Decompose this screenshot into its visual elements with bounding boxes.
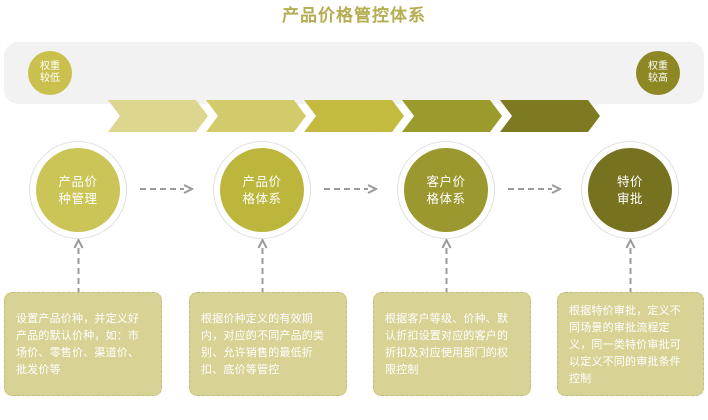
stage-node-4-body: 特价 审批 xyxy=(588,148,672,232)
callout-arrow-3 xyxy=(441,238,452,294)
chevron-row xyxy=(108,100,598,132)
description-box-2: 根据价种定义的有效期内，对应的不同产品的类别、允许销售的最低折扣、底价等管控 xyxy=(189,292,347,396)
stage-node-1-line2: 种管理 xyxy=(58,190,97,207)
stage-node-4-line2: 审批 xyxy=(617,190,643,207)
callout-arrow-4 xyxy=(625,238,636,294)
weight-badge-high-line1: 权重 xyxy=(648,61,668,73)
chevron-arrow xyxy=(304,100,404,132)
weight-badge-low-line1: 权重 xyxy=(40,61,60,73)
callout-arrow-2 xyxy=(257,238,268,294)
flow-arrow-1-to-2 xyxy=(140,184,194,194)
price-control-diagram: 产品价格管控体系 权重 较低 权重 较高 xyxy=(0,0,708,420)
chevron-arrow xyxy=(500,100,600,132)
weight-badge-low: 权重 较低 xyxy=(28,51,72,95)
page-title: 产品价格管控体系 xyxy=(0,4,708,28)
stage-node-3[interactable]: 客户价 格体系 xyxy=(398,142,494,238)
stage-node-3-line1: 客户价 xyxy=(426,173,465,190)
chevron-arrow xyxy=(108,100,208,132)
callout-arrow-1 xyxy=(73,238,84,294)
weight-badge-high: 权重 较高 xyxy=(636,51,680,95)
chevron-arrow xyxy=(402,100,502,132)
stage-node-2-line1: 产品价 xyxy=(242,173,281,190)
stage-node-4-line1: 特价 xyxy=(617,173,643,190)
stage-node-1-line1: 产品价 xyxy=(58,173,97,190)
stage-node-3-line2: 格体系 xyxy=(426,190,465,207)
description-text-2: 根据价种定义的有效期内，对应的不同产品的类别、允许销售的最低折扣、底价等管控 xyxy=(201,310,335,378)
stage-node-2[interactable]: 产品价 格体系 xyxy=(214,142,310,238)
chevron-arrow xyxy=(206,100,306,132)
stage-node-1[interactable]: 产品价 种管理 xyxy=(30,142,126,238)
description-text-1: 设置产品价种，并定义好产品的默认价种，如：市场价、零售价、渠道价、批发价等 xyxy=(16,310,150,378)
flow-arrow-2-to-3 xyxy=(324,184,378,194)
stage-node-4[interactable]: 特价 审批 xyxy=(582,142,678,238)
description-box-3: 根据客户等级、价种、默认折扣设置对应的客户的折扣及对应使用部门的权限控制 xyxy=(373,292,531,396)
weight-scale-panel: 权重 较低 权重 较高 xyxy=(4,42,704,104)
description-text-3: 根据客户等级、价种、默认折扣设置对应的客户的折扣及对应使用部门的权限控制 xyxy=(385,310,519,378)
description-box-1: 设置产品价种，并定义好产品的默认价种，如：市场价、零售价、渠道价、批发价等 xyxy=(4,292,162,396)
stage-node-1-body: 产品价 种管理 xyxy=(36,148,120,232)
description-text-4: 根据特价审批，定义不同场景的审批流程定义，同一类特价审批可以定义不同的审批条件控… xyxy=(569,302,692,387)
stage-node-2-body: 产品价 格体系 xyxy=(220,148,304,232)
weight-badge-low-line2: 较低 xyxy=(40,73,60,85)
flow-arrow-3-to-4 xyxy=(508,184,562,194)
weight-badge-high-line2: 较高 xyxy=(648,73,668,85)
description-box-4: 根据特价审批，定义不同场景的审批流程定义，同一类特价审批可以定义不同的审批条件控… xyxy=(557,292,704,396)
stage-node-2-line2: 格体系 xyxy=(242,190,281,207)
stage-node-3-body: 客户价 格体系 xyxy=(404,148,488,232)
